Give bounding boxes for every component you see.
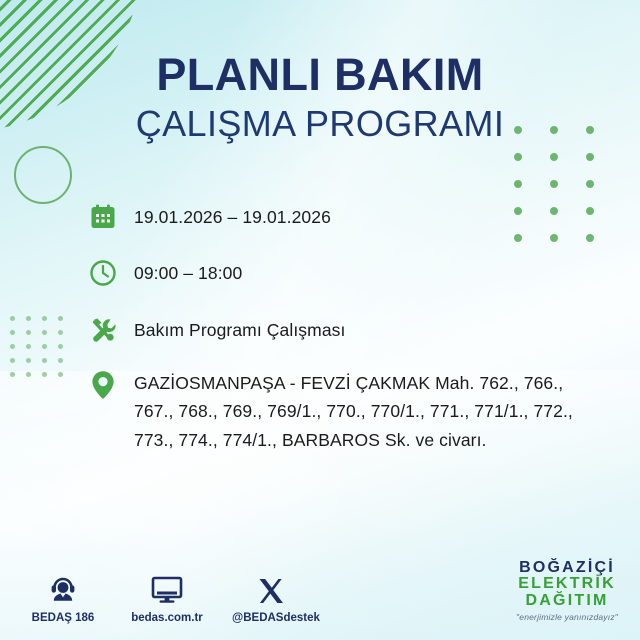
date-range-text: 19.01.2026 – 19.01.2026 xyxy=(120,200,606,231)
dot xyxy=(26,316,31,321)
brand-tagline: "enerjimizle yanınızdayız" xyxy=(516,613,618,622)
dot xyxy=(26,372,31,377)
dot xyxy=(26,358,31,363)
dot xyxy=(42,316,47,321)
dot xyxy=(26,344,31,349)
brand-line-dagitim: DAĞITIM xyxy=(516,593,618,610)
work-type-text: Bakım Programı Çalışması xyxy=(120,313,606,344)
footer-contacts: BEDAŞ 186 bedas.com.tr @BEDASdestek xyxy=(24,570,310,624)
clock-icon xyxy=(86,256,120,290)
contact-phone[interactable]: BEDAŞ 186 xyxy=(24,570,102,624)
circle-outline-decoration xyxy=(14,146,72,204)
dot xyxy=(58,358,63,363)
dot xyxy=(10,344,15,349)
contact-social[interactable]: @BEDASdestek xyxy=(232,570,310,624)
page-subtitle: ÇALIŞMA PROGRAMI xyxy=(0,103,640,144)
dot xyxy=(10,330,15,335)
dot xyxy=(58,372,63,377)
monitor-icon xyxy=(128,570,206,606)
support-agent-icon xyxy=(24,570,102,606)
dot xyxy=(550,153,558,161)
info-row-work-type: Bakım Programı Çalışması xyxy=(86,313,606,347)
dot xyxy=(58,330,63,335)
calendar-icon xyxy=(86,200,120,234)
info-row-date: 19.01.2026 – 19.01.2026 xyxy=(86,200,606,234)
dot xyxy=(10,358,15,363)
poster-header: PLANLI BAKIM ÇALIŞMA PROGRAMI xyxy=(0,52,640,144)
dot xyxy=(26,330,31,335)
info-list: 19.01.2026 – 19.01.2026 09:00 – 18:00 xyxy=(86,200,606,454)
dot xyxy=(10,316,15,321)
bedas-logo: BOĞAZİÇİ ELEKTRİK DAĞITIM "enerjimizle y… xyxy=(516,560,618,622)
tools-icon xyxy=(86,313,120,347)
dot xyxy=(42,372,47,377)
map-pin-icon xyxy=(86,368,120,402)
brand-line-bogazici: BOĞAZİÇİ xyxy=(516,560,618,577)
dot xyxy=(10,372,15,377)
contact-website-label: bedas.com.tr xyxy=(128,612,206,624)
dot xyxy=(550,180,558,188)
dot xyxy=(58,344,63,349)
address-text: GAZİOSMANPAŞA - FEVZİ ÇAKMAK Mah. 762., … xyxy=(120,368,606,454)
dot xyxy=(58,316,63,321)
dot xyxy=(42,330,47,335)
dot xyxy=(514,180,522,188)
time-range-text: 09:00 – 18:00 xyxy=(120,256,606,287)
dot xyxy=(586,180,594,188)
dot xyxy=(586,153,594,161)
dot-grid-left-decoration xyxy=(10,316,74,386)
page-title: PLANLI BAKIM xyxy=(0,52,640,97)
dot xyxy=(42,358,47,363)
planned-maintenance-poster: PLANLI BAKIM ÇALIŞMA PROGRAMI 19.01.2026… xyxy=(0,0,640,640)
info-row-address: GAZİOSMANPAŞA - FEVZİ ÇAKMAK Mah. 762., … xyxy=(86,368,606,454)
contact-website[interactable]: bedas.com.tr xyxy=(128,570,206,624)
x-social-icon xyxy=(232,570,310,606)
brand-line-elektrik: ELEKTRİK xyxy=(516,576,618,593)
dot xyxy=(42,344,47,349)
dot xyxy=(514,153,522,161)
contact-social-label: @BEDASdestek xyxy=(232,612,310,624)
contact-phone-label: BEDAŞ 186 xyxy=(24,612,102,624)
info-row-time: 09:00 – 18:00 xyxy=(86,256,606,290)
